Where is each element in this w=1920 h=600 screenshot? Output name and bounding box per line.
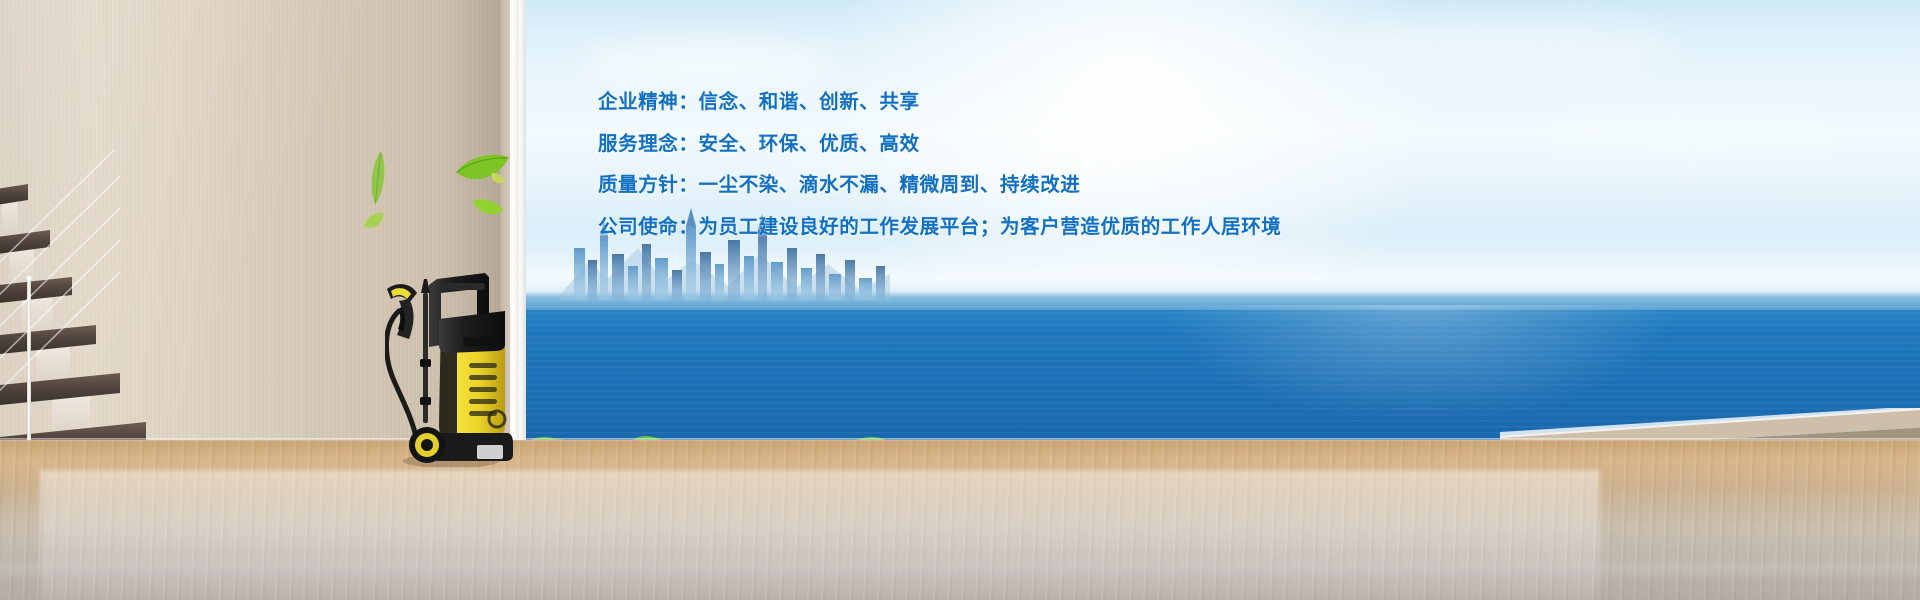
slogan-line-2: 服务理念：安全、环保、优质、高效 — [598, 134, 1358, 154]
window-frame-left-inner — [519, 0, 526, 446]
pressure-washer-icon — [385, 267, 515, 467]
slogan-line-1: 企业精神：信念、和谐、创新、共享 — [598, 92, 1358, 112]
floor-edge-highlight — [0, 438, 1920, 442]
floor-light-band — [0, 558, 1920, 578]
cloud-2 — [1340, 20, 1680, 74]
slogan-line-3: 质量方针：一尘不染、滴水不漏、精微周到、持续改进 — [598, 175, 1358, 195]
sea-reflection — [1160, 305, 1680, 425]
floor-reflection — [40, 470, 1600, 600]
slogan-block: 企业精神：信念、和谐、创新、共享 服务理念：安全、环保、优质、高效 质量方针：一… — [598, 92, 1358, 236]
hero-banner: 企业精神：信念、和谐、创新、共享 服务理念：安全、环保、优质、高效 质量方针：一… — [0, 0, 1920, 600]
slogan-line-4: 公司使命：为员工建设良好的工作发展平台；为客户营造优质的工作人居环境 — [598, 217, 1358, 237]
cloud-3 — [1540, 120, 1840, 160]
cloud-1 — [580, 40, 840, 88]
